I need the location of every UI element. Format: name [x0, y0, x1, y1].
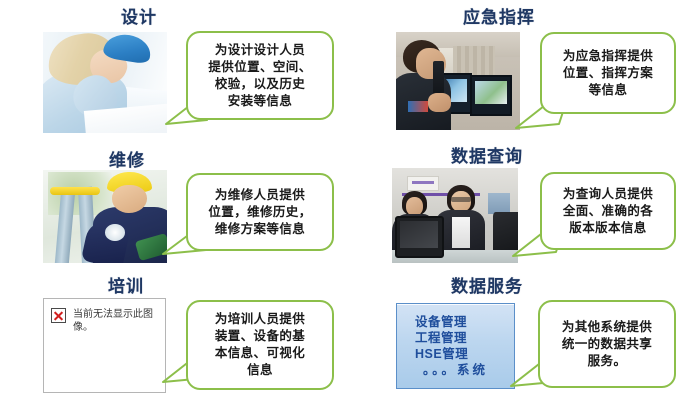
callout-emergency: 为应急指挥提供 位置、指挥方案 等信息: [540, 32, 676, 114]
callout-maintenance: 为维修人员提供 位置，维修历史， 维修方案等信息: [186, 173, 334, 251]
callout-data-service: 为其他系统提供 统一的数据共享 服务。: [538, 300, 676, 388]
panel-title-training: 培训: [108, 272, 144, 297]
callout-maintenance-text: 为维修人员提供 位置，维修历史， 维修方案等信息: [202, 185, 317, 240]
panel-title-maintenance: 维修: [109, 146, 145, 171]
diagram-canvas: 设计 为设计设计人员 提供位置、空间、 校验，以及历史 安装等信息 应急指挥 为…: [0, 0, 681, 400]
service-line-4: 。。。系统: [415, 362, 514, 378]
panel-title-design: 设计: [121, 3, 157, 28]
callout-design-text: 为设计设计人员 提供位置、空间、 校验，以及历史 安装等信息: [202, 40, 317, 112]
callout-query-text: 为查询人员提供 全面、准确的各 版本版本信息: [557, 184, 659, 239]
photo-maintenance: [43, 170, 167, 263]
callout-training: 为培训人员提供 装置、设备的基 本信息、可视化 信息: [186, 300, 334, 390]
callout-design: 为设计设计人员 提供位置、空间、 校验，以及历史 安装等信息: [186, 31, 334, 120]
service-line-3: HSE管理: [415, 346, 514, 362]
broken-image-training: 当前无法显示此图像。: [43, 298, 166, 393]
photo-query: [392, 168, 518, 263]
service-line-2: 工程管理: [415, 330, 514, 346]
callout-training-text: 为培训人员提供 装置、设备的基 本信息、可视化 信息: [209, 309, 311, 381]
service-line-1: 设备管理: [415, 314, 514, 330]
photo-emergency: [396, 32, 520, 130]
panel-title-query: 数据查询: [451, 142, 523, 167]
panel-title-emergency: 应急指挥: [463, 3, 535, 28]
callout-data-service-text: 为其他系统提供 统一的数据共享 服务。: [556, 317, 658, 372]
callout-emergency-text: 为应急指挥提供 位置、指挥方案 等信息: [557, 46, 659, 101]
data-service-box: 设备管理 工程管理 HSE管理 。。。系统: [396, 303, 515, 389]
callout-query: 为查询人员提供 全面、准确的各 版本版本信息: [540, 172, 676, 250]
broken-image-label: 当前无法显示此图像。: [73, 308, 158, 334]
broken-image-icon: [51, 308, 66, 323]
panel-title-data-service: 数据服务: [451, 272, 523, 297]
photo-design: [43, 32, 167, 133]
